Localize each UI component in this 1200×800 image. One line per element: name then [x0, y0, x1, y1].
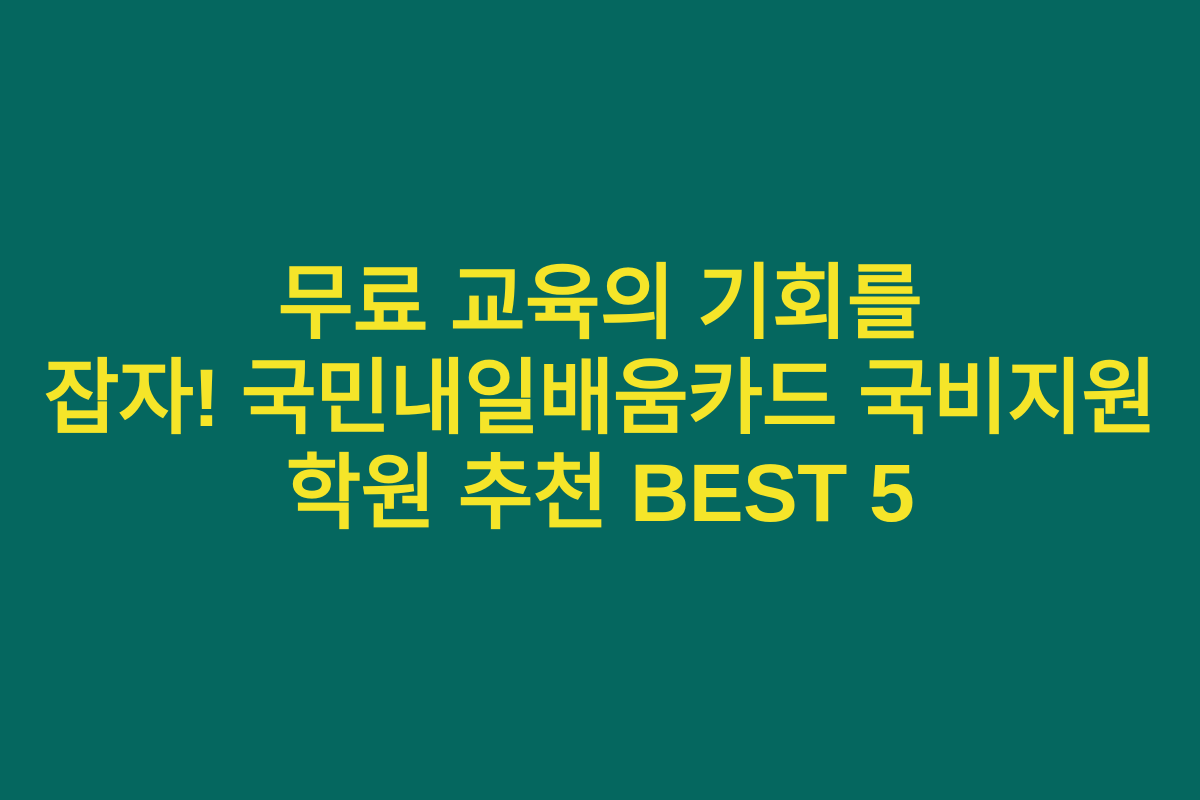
headline-line-1: 무료 교육의 기회를	[278, 256, 922, 351]
headline-block: 무료 교육의 기회를 잡자! 국민내일배움카드 국비지원 학원 추천 BEST …	[0, 256, 1200, 541]
thumbnail-card: 무료 교육의 기회를 잡자! 국민내일배움카드 국비지원 학원 추천 BEST …	[0, 0, 1200, 800]
headline-line-2: 잡자! 국민내일배움카드 국비지원	[44, 351, 1156, 446]
headline-line-3: 학원 추천 BEST 5	[286, 446, 914, 541]
